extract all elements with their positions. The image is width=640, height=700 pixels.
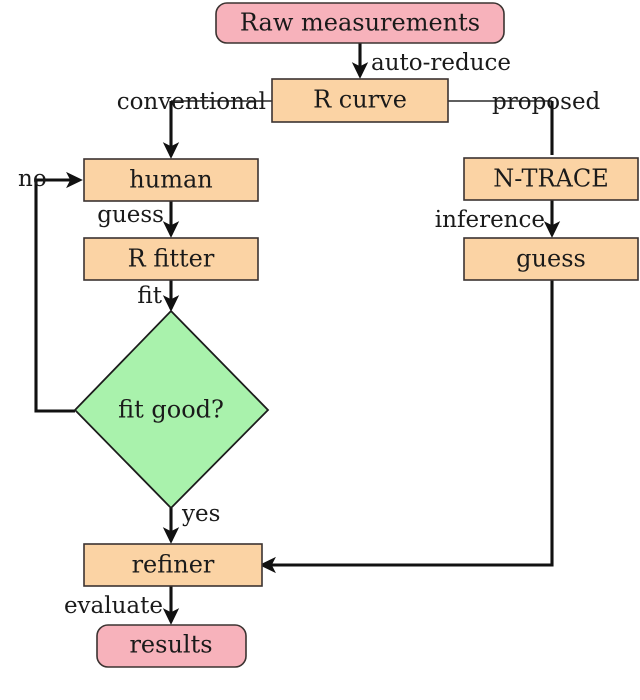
node-n-trace-label: N-TRACE [493,165,609,193]
node-guess-label: guess [516,245,586,273]
node-r-fitter[interactable]: R fitter [84,238,258,280]
edge-fitgood-no-loop [36,180,80,411]
edge-guess-to-refiner [262,280,552,565]
flowchart-canvas: Raw measurements R curve human R fitter … [0,0,640,700]
edge-label-evaluate: evaluate [64,593,163,619]
node-results-label: results [129,631,212,659]
edge-label-no: no [18,166,47,192]
node-n-trace[interactable]: N-TRACE [464,158,638,200]
node-guess[interactable]: guess [464,238,638,280]
edge-label-fit: fit [137,283,162,309]
node-refiner-label: refiner [132,551,215,579]
node-r-curve-label: R curve [313,86,407,114]
edge-label-inference: inference [435,207,545,233]
flowchart-diagram: Raw measurements R curve human R fitter … [0,0,640,700]
edge-label-guess: guess [97,202,164,228]
node-r-curve[interactable]: R curve [272,79,448,122]
edge-label-yes: yes [181,501,220,527]
node-fit-good-decision[interactable]: fit good? [75,311,268,508]
node-fit-good-label: fit good? [118,396,224,424]
node-raw-measurements-label: Raw measurements [240,9,480,37]
edge-label-conventional: conventional [117,89,266,115]
node-results[interactable]: results [97,625,246,667]
node-human[interactable]: human [84,159,258,201]
edge-label-proposed: proposed [492,89,601,115]
edge-label-auto-reduce: auto-reduce [371,50,511,76]
node-refiner[interactable]: refiner [84,544,262,586]
node-r-fitter-label: R fitter [128,245,215,273]
node-raw-measurements[interactable]: Raw measurements [216,3,504,43]
node-human-label: human [129,166,212,194]
